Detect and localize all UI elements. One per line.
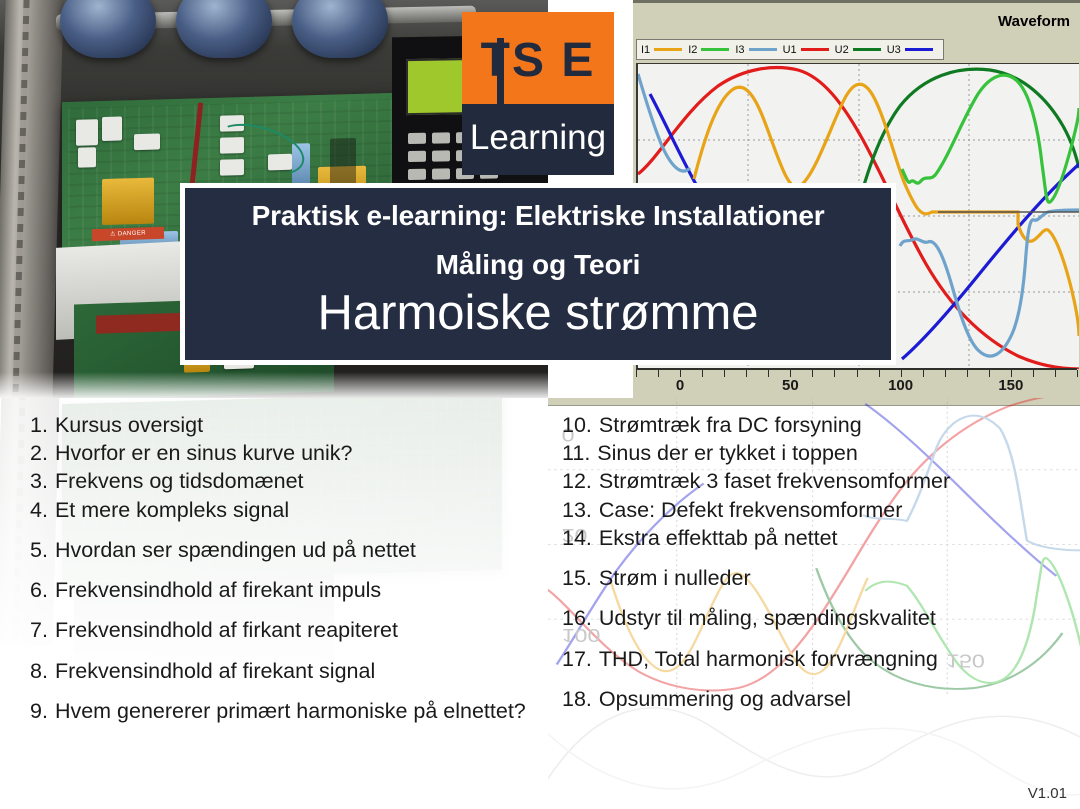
banner-title: Harmoiske strømme [317, 285, 758, 341]
logo-learning-text: Learning [462, 104, 614, 175]
agenda-item-label: Sinus der er tykket i toppen [597, 440, 1072, 466]
agenda-item[interactable]: 8.Frekvensindhold af firekant signal [30, 658, 550, 684]
axis-tick-label: 150 [998, 377, 1023, 394]
axis-tick [989, 370, 990, 377]
agenda-item-number: 9. [30, 698, 48, 724]
agenda-item-label: THD, Total harmonisk forvrængning [599, 646, 1072, 672]
legend-swatch [749, 48, 777, 51]
agenda-item-label: Udstyr til måling, spændingskvalitet [599, 605, 1072, 631]
agenda-item-number: 6. [30, 577, 48, 603]
legend-label: I2 [688, 44, 697, 56]
legend-item-i2: I2 [688, 44, 729, 56]
legend-label: U1 [783, 44, 797, 56]
axis-tick-label: 100 [888, 377, 913, 394]
agenda-item-label: Hvordan ser spændingen ud på nettet [55, 537, 550, 563]
agenda-item-label: Strøm i nulleder [599, 565, 1072, 591]
axis-tick [1011, 370, 1012, 377]
axis-tick [1055, 370, 1056, 377]
agenda-item-number: 1. [30, 412, 48, 438]
axis-tick [967, 370, 968, 377]
legend-item-u3: U3 [887, 44, 933, 56]
agenda-item-label: Et mere kompleks signal [55, 497, 550, 523]
agenda-item-label: Hvem genererer primært harmoniske på eln… [55, 698, 550, 724]
agenda-item[interactable]: 17.THD, Total harmonisk forvrængning [562, 646, 1072, 672]
axis-tick-label: 50 [782, 377, 799, 394]
agenda-item[interactable]: 6.Frekvensindhold af firekant impuls [30, 577, 550, 603]
legend-label: I1 [641, 44, 650, 56]
agenda-item[interactable]: 13.Case: Defekt frekvensomformer [562, 497, 1072, 523]
agenda-item[interactable]: 12.Strømtræk 3 faset frekvensomformer [562, 468, 1072, 494]
agenda-item-number: 12. [562, 468, 592, 494]
version-label: V1.01 [1028, 785, 1067, 802]
agenda-item[interactable]: 11.Sinus der er tykket i toppen [562, 440, 1072, 466]
agenda-item[interactable]: 4.Et mere kompleks signal [30, 497, 550, 523]
legend-label: U3 [887, 44, 901, 56]
agenda-item[interactable]: 16.Udstyr til måling, spændingskvalitet [562, 605, 1072, 631]
agenda-item[interactable]: 10.Strømtræk fra DC forsyning [562, 412, 1072, 438]
title-banner: Praktisk e-learning: Elektriske Installa… [180, 183, 896, 365]
agenda-item-label: Strømtræk fra DC forsyning [599, 412, 1072, 438]
axis-tick [1033, 370, 1034, 377]
agenda-item-number: 10. [562, 412, 592, 438]
axis-tick [812, 370, 813, 377]
agenda-item-number: 11. [562, 440, 590, 466]
axis-tick [636, 370, 637, 377]
axis-tick [901, 370, 902, 377]
agenda-item-number: 13. [562, 497, 592, 523]
agenda-item[interactable]: 14.Ekstra effekttab på nettet [562, 525, 1072, 551]
agenda-item-label: Opsummering og advarsel [599, 686, 1072, 712]
legend-item-u2: U2 [835, 44, 881, 56]
banner-line-2: Måling og Teori [436, 249, 641, 281]
agenda-item[interactable]: 5.Hvordan ser spændingen ud på nettet [30, 537, 550, 563]
agenda-item-number: 3. [30, 468, 48, 494]
agenda-item-label: Kursus oversigt [55, 412, 550, 438]
tse-learning-logo: TS E Learning [462, 12, 614, 175]
legend-swatch [853, 48, 881, 51]
danger-label: ⚠ DANGER [92, 227, 164, 242]
agenda-item-number: 17. [562, 646, 592, 672]
agenda-item[interactable]: 18.Opsummering og advarsel [562, 686, 1072, 712]
agenda-item-number: 18. [562, 686, 592, 712]
agenda-column-left: 1.Kursus oversigt2.Hvorfor er en sinus k… [30, 412, 550, 738]
axis-tick [1077, 370, 1078, 377]
legend-item-u1: U1 [783, 44, 829, 56]
legend-swatch [905, 48, 933, 51]
agenda-item-label: Strømtræk 3 faset frekvensomformer [599, 468, 1072, 494]
agenda-item-label: Ekstra effekttab på nettet [599, 525, 1072, 551]
agenda-item[interactable]: 2.Hvorfor er en sinus kurve unik? [30, 440, 550, 466]
axis-tick [658, 370, 659, 377]
agenda-item-label: Frekvensindhold af firekant impuls [55, 577, 550, 603]
legend-label: I3 [735, 44, 744, 56]
axis-tick [768, 370, 769, 377]
agenda-item-label: Case: Defekt frekvensomformer [599, 497, 1072, 523]
legend-label: U2 [835, 44, 849, 56]
waveform-x-tick-labels: 050100150 [636, 377, 1077, 399]
slide-canvas: ⚠ DANGER TS E Learning Waveform I1I2I3U1… [0, 0, 1080, 809]
agenda-item[interactable]: 15.Strøm i nulleder [562, 565, 1072, 591]
axis-tick [857, 370, 858, 377]
agenda-item-label: Frekvensindhold af firekant signal [55, 658, 550, 684]
agenda-item[interactable]: 7.Frekvensindhold af firkant reapiteret [30, 617, 550, 643]
legend-item-i1: I1 [641, 44, 682, 56]
agenda-item-number: 2. [30, 440, 48, 466]
agenda-item-label: Frekvens og tidsdomænet [55, 468, 550, 494]
agenda-item[interactable]: 1.Kursus oversigt [30, 412, 550, 438]
agenda-item-number: 8. [30, 658, 48, 684]
axis-tick [923, 370, 924, 377]
axis-tick [746, 370, 747, 377]
axis-tick [834, 370, 835, 377]
axis-tick [879, 370, 880, 377]
agenda-item-number: 7. [30, 617, 48, 643]
agenda-item-number: 14. [562, 525, 592, 551]
axis-tick-label: 0 [676, 377, 684, 394]
axis-tick [680, 370, 681, 377]
agenda-item-number: 15. [562, 565, 592, 591]
agenda-item-label: Frekvensindhold af firkant reapiteret [55, 617, 550, 643]
legend-swatch [801, 48, 829, 51]
banner-line-1: Praktisk e-learning: Elektriske Installa… [252, 200, 825, 232]
agenda-item[interactable]: 3.Frekvens og tidsdomænet [30, 468, 550, 494]
agenda-item-number: 5. [30, 537, 48, 563]
axis-tick [724, 370, 725, 377]
legend-item-i3: I3 [735, 44, 776, 56]
axis-tick [702, 370, 703, 377]
agenda-item-number: 16. [562, 605, 592, 631]
waveform-legend: I1I2I3U1U2U3 [636, 39, 944, 60]
agenda-item[interactable]: 9.Hvem genererer primært harmoniske på e… [30, 698, 550, 724]
agenda-item-number: 4. [30, 497, 48, 523]
agenda-item-label: Hvorfor er en sinus kurve unik? [55, 440, 550, 466]
agenda-column-right: 10.Strømtræk fra DC forsyning11.Sinus de… [562, 412, 1072, 726]
legend-swatch [654, 48, 682, 51]
axis-tick [790, 370, 791, 377]
axis-tick [945, 370, 946, 377]
logo-t-stem [497, 38, 504, 106]
waveform-chart-title: Waveform [998, 13, 1070, 30]
legend-swatch [701, 48, 729, 51]
